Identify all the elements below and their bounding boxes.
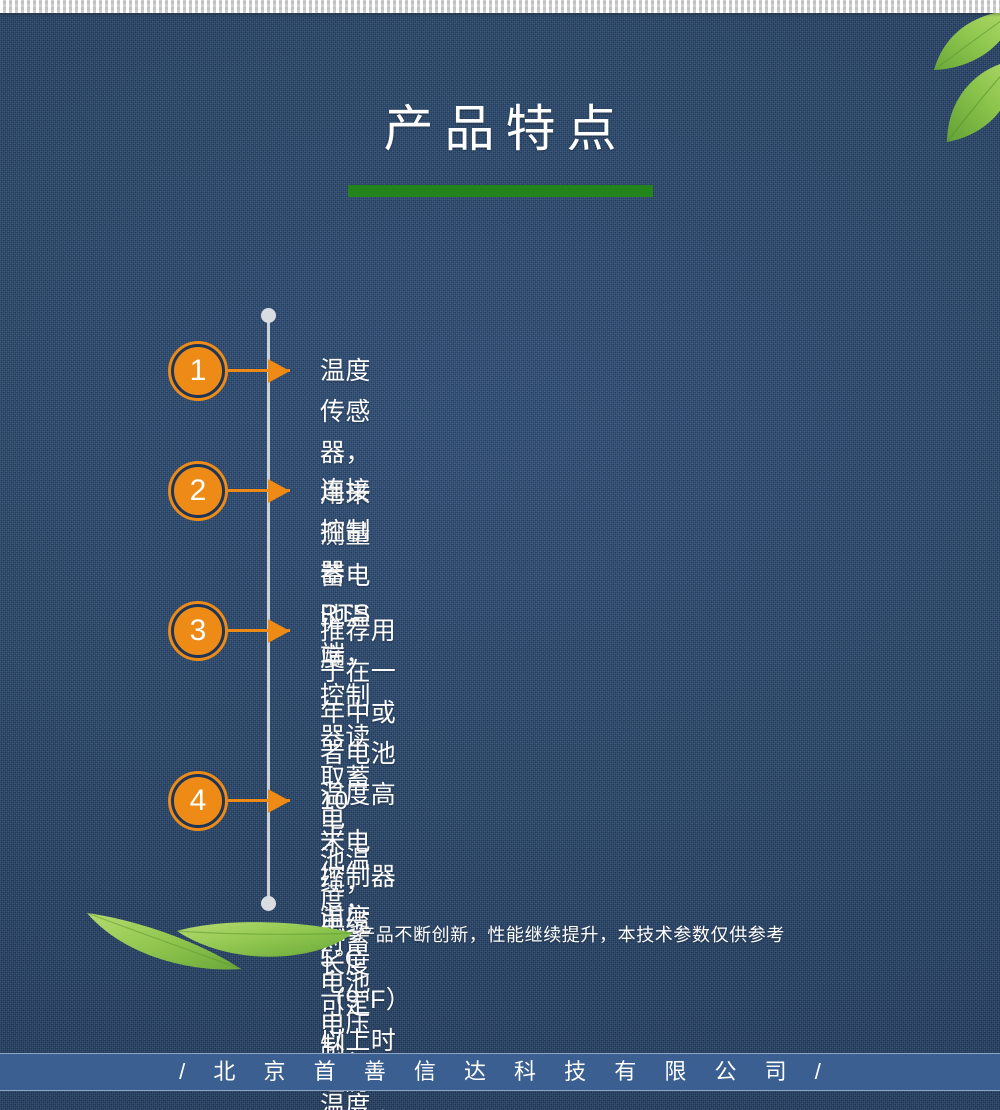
feature-badge-1: 1 <box>171 344 225 398</box>
page-title: 产品特点 <box>0 104 1000 154</box>
disclaimer-note: 注：产品不断创新，性能继续提升，本技术参数仅供参考 <box>320 922 785 948</box>
timeline-dot-bottom <box>261 896 276 911</box>
top-fabric-strip <box>0 0 1000 13</box>
timeline-dot-top <box>261 308 276 323</box>
feature-arrow-1 <box>268 359 290 383</box>
feature-arrow-3 <box>268 619 290 643</box>
top-strip-shadow <box>0 13 1000 17</box>
timeline-vertical-line <box>267 316 270 904</box>
feature-arrow-4 <box>268 789 290 813</box>
product-features-page: 产品特点 1 温度传感器，用来测量蓄电池温度 2 连接控制器 RTS 端，控制器… <box>0 0 1000 1110</box>
title-underline-bar <box>348 185 653 197</box>
leaf-icon <box>85 905 245 975</box>
page-title-text: 产品特点 <box>373 104 628 154</box>
feature-arrow-2 <box>268 479 290 503</box>
feature-badge-2: 2 <box>171 464 225 518</box>
footer-company-name: / 北 京 首 善 信 达 科 技 有 限 公 司 / <box>0 1055 1000 1089</box>
leaf-icon <box>930 8 1000 78</box>
feature-badge-4: 4 <box>171 774 225 828</box>
feature-badge-3: 3 <box>171 604 225 658</box>
